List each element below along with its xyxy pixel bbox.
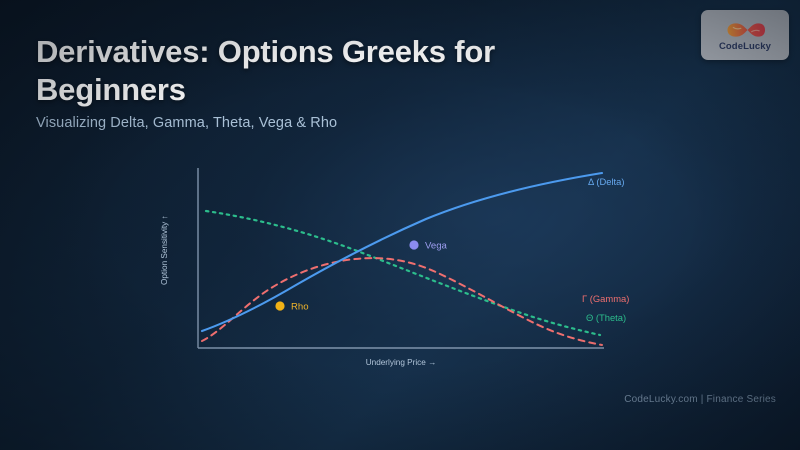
brand-logo-text: CodeLucky	[719, 42, 771, 52]
annotation-dot-rho[interactable]	[275, 301, 284, 310]
page-title: Derivatives: Options Greeks for Beginner…	[36, 33, 556, 109]
series-line-delta	[202, 173, 602, 331]
series-label-theta: Θ (Theta)	[586, 312, 626, 323]
y-axis-label: Option Sensitivity ↑	[160, 215, 169, 285]
footer-credit: CodeLucky.com | Finance Series	[624, 394, 776, 405]
greeks-chart: Option Sensitivity ↑ Δ (Delta) Γ (Gamma)…	[150, 155, 650, 370]
chart-svg: Option Sensitivity ↑ Δ (Delta) Γ (Gamma)…	[150, 155, 650, 370]
infinity-logo-icon	[725, 19, 765, 41]
annotation-dot-vega[interactable]	[409, 240, 418, 249]
series-label-gamma: Γ (Gamma)	[582, 293, 629, 304]
annotation-label-rho: Rho	[291, 302, 309, 313]
series-line-gamma	[202, 258, 602, 345]
x-axis-label: Underlying Price →	[366, 358, 437, 367]
brand-logo-card[interactable]: CodeLucky	[701, 10, 789, 60]
slide-canvas: CodeLucky Derivatives: Options Greeks fo…	[0, 0, 800, 450]
page-subtitle: Visualizing Delta, Gamma, Theta, Vega & …	[36, 115, 337, 131]
annotation-label-vega: Vega	[425, 241, 448, 252]
series-label-delta: Δ (Delta)	[588, 176, 624, 187]
